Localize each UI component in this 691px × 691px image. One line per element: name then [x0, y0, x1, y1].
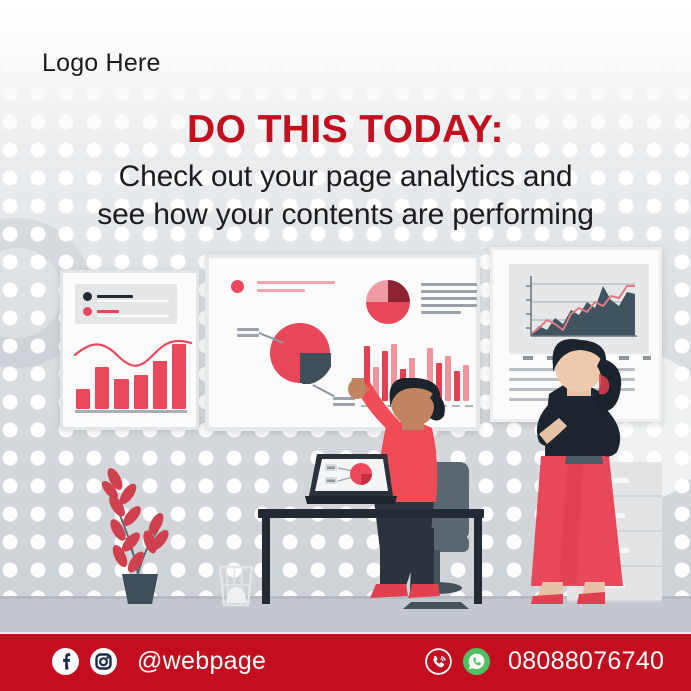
left-whiteboard	[60, 270, 199, 430]
desk-surface	[258, 509, 484, 518]
center-board-callout-text	[237, 334, 259, 337]
center-board-text-line	[421, 311, 461, 314]
center-board-small-pie	[364, 278, 412, 326]
footer-social-group: @webpage	[52, 632, 266, 691]
logo-placeholder: Logo Here	[42, 49, 161, 78]
center-board-text-line	[421, 283, 477, 286]
footer-contact-group: 08088076740	[425, 632, 664, 691]
bar	[172, 344, 186, 409]
bar	[114, 379, 128, 409]
bar	[134, 375, 148, 409]
bar	[153, 361, 167, 409]
headline: DO THIS TODAY:	[0, 110, 691, 151]
center-board-text-line	[421, 304, 477, 307]
desk-leg	[474, 518, 482, 604]
legend-dot-dark	[83, 292, 92, 301]
left-board-bar-chart	[76, 341, 186, 409]
legend-bar-red	[97, 310, 119, 313]
center-board-legend-dot	[231, 280, 244, 293]
bar	[95, 367, 109, 409]
center-board-callout-text	[237, 328, 259, 331]
social-handle: @webpage	[137, 647, 266, 676]
center-board-text-line	[421, 297, 477, 300]
subheadline-line-1: Check out your page analytics and	[22, 158, 669, 196]
right-board-area-chart	[519, 272, 639, 342]
poster-canvas: Logo Here DO THIS TODAY: Check out your …	[0, 0, 691, 691]
center-board-text-line	[421, 290, 477, 293]
bar	[76, 389, 90, 409]
facebook-icon[interactable]	[52, 648, 79, 675]
center-board-legend-line-2	[257, 289, 305, 292]
footer-bar: @webpage 08088076740	[0, 632, 691, 691]
laptop	[305, 452, 397, 514]
whatsapp-icon[interactable]	[463, 648, 490, 675]
legend-rule-2	[97, 315, 169, 317]
legend-dot-red	[83, 307, 92, 316]
phone-icon[interactable]	[425, 648, 452, 675]
desk-leg	[262, 518, 270, 604]
left-board-legend	[75, 284, 177, 324]
phone-number: 08088076740	[508, 647, 664, 676]
center-board-large-pie	[269, 322, 331, 384]
legend-rule-1	[97, 300, 169, 302]
legend-bar-dark	[97, 295, 133, 298]
subheadline-line-2: see how your contents are performing	[22, 196, 669, 234]
instagram-icon[interactable]	[90, 648, 117, 675]
potted-plant	[82, 446, 192, 606]
waste-basket	[213, 563, 259, 607]
center-board-legend-line-1	[257, 281, 335, 284]
left-board-axis	[75, 410, 187, 413]
subheadline: Check out your page analytics and see ho…	[22, 158, 669, 233]
woman-standing	[505, 338, 650, 608]
